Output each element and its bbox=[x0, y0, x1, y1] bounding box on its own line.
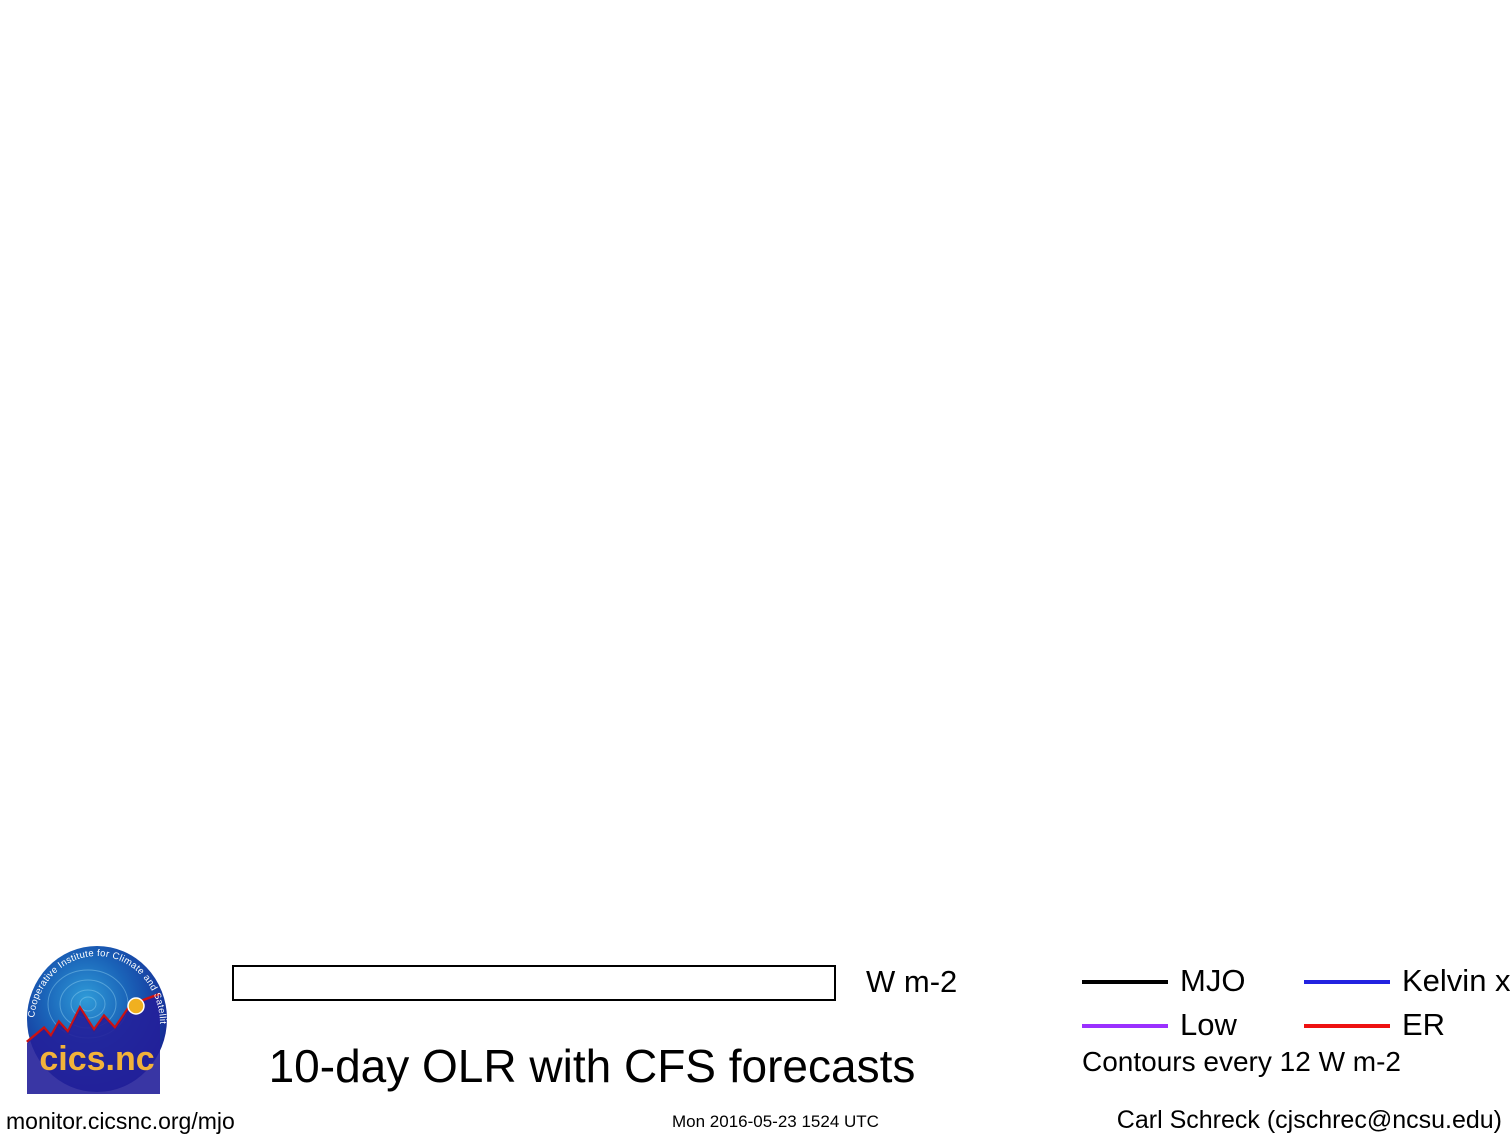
legend-swatch-mjo bbox=[1082, 980, 1168, 984]
colorbar-tick-labels bbox=[232, 1001, 836, 1035]
legend-swatch-low bbox=[1082, 1024, 1168, 1028]
contour-legend: MJO Kelvin x2 Low ER bbox=[1082, 964, 1502, 1044]
colorbar-units-label: W m-2 bbox=[866, 965, 957, 999]
legend-swatch-kelvin bbox=[1304, 980, 1390, 984]
legend-label-mjo: MJO bbox=[1180, 964, 1245, 998]
legend-label-er: ER bbox=[1402, 1008, 1445, 1042]
footer-url[interactable]: monitor.cicsnc.org/mjo bbox=[6, 1108, 235, 1134]
cics-nc-logo: Cooperative Institute for Climate and Sa… bbox=[18, 944, 176, 1094]
logo-wordmark: cics.nc bbox=[39, 1040, 154, 1078]
legend-label-kelvin: Kelvin x2 bbox=[1402, 964, 1510, 998]
page-title: 10-day OLR with CFS forecasts bbox=[232, 1041, 952, 1091]
colorbar bbox=[232, 965, 836, 1001]
footer-timestamp: Mon 2016-05-23 1524 UTC bbox=[672, 1112, 879, 1132]
footer-author: Carl Schreck (cjschrec@ncsu.edu) bbox=[1117, 1106, 1502, 1134]
legend-label-low: Low bbox=[1180, 1008, 1237, 1042]
contour-interval-note: Contours every 12 W m-2 bbox=[1082, 1046, 1401, 1078]
legend-swatch-er bbox=[1304, 1024, 1390, 1028]
